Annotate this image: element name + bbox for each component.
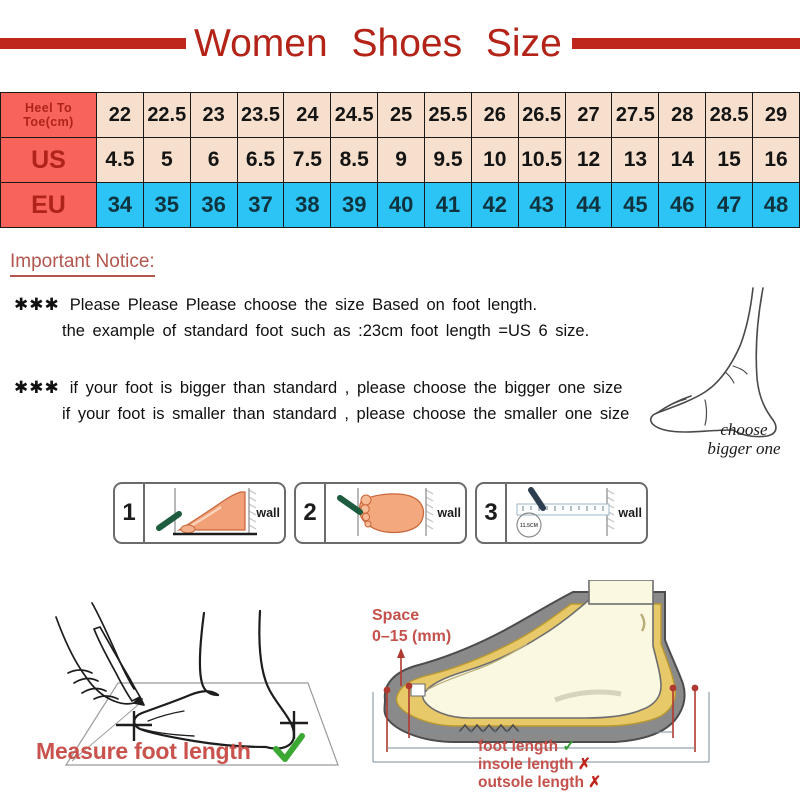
notice-text: if your foot is bigger than standard , p… — [70, 379, 623, 397]
cell-us: 14 — [659, 138, 706, 183]
notice-text: the example of standard foot such as :23… — [62, 322, 589, 340]
cell-us: 8.5 — [331, 138, 378, 183]
choose-line-1: choose — [694, 420, 794, 439]
notice-block-2: ✱✱✱if your foot is bigger than standard … — [14, 375, 629, 427]
legend-label: foot length — [478, 738, 558, 755]
cell-us: 6 — [190, 138, 237, 183]
space-line-1: Space — [372, 605, 451, 626]
cell-eu: 39 — [331, 183, 378, 228]
green-check-icon — [272, 732, 306, 766]
asterisk-marker: ✱✱✱ — [14, 378, 60, 397]
length-legend: foot length ✓ insole length ✗ outsole le… — [478, 738, 601, 792]
cell-eu: 45 — [612, 183, 659, 228]
step-illustration-foot-top: wall — [326, 484, 465, 542]
page-title-banner: Women Shoes Size — [0, 14, 800, 72]
row-label-us: US — [1, 138, 97, 183]
legend-insole-length: insole length ✗ — [478, 756, 601, 774]
cell-cm: 24.5 — [331, 93, 378, 138]
notice-line: ✱✱✱Please Please Please choose the size … — [14, 292, 589, 318]
space-line-2: 0–15 (mm) — [372, 626, 451, 647]
cell-us: 9 — [378, 138, 425, 183]
legend-label: insole length — [478, 756, 574, 773]
title-bar-left — [0, 38, 186, 49]
cell-eu: 47 — [706, 183, 753, 228]
cell-eu: 36 — [190, 183, 237, 228]
cell-eu: 34 — [97, 183, 144, 228]
cell-cm: 24 — [284, 93, 331, 138]
cell-us: 15 — [706, 138, 753, 183]
cell-us: 7.5 — [284, 138, 331, 183]
wall-label: wall — [437, 506, 461, 520]
cell-us: 10.5 — [518, 138, 565, 183]
row-label-heel-to-toe: Heel To Toe(cm) — [1, 93, 97, 138]
cell-cm: 28 — [659, 93, 706, 138]
table-row-heel-to-toe: Heel To Toe(cm) 22 22.5 23 23.5 24 24.5 … — [1, 93, 800, 138]
notice-block-1: ✱✱✱Please Please Please choose the size … — [14, 292, 589, 344]
notice-text: if your foot is smaller than standard , … — [62, 405, 629, 423]
cell-cm: 25.5 — [425, 93, 472, 138]
cell-eu: 43 — [518, 183, 565, 228]
cell-us: 5 — [143, 138, 190, 183]
legend-label: outsole length — [478, 774, 584, 791]
step-number: 1 — [115, 484, 145, 542]
cell-us: 16 — [753, 138, 800, 183]
table-row-eu: EU 34 35 36 37 38 39 40 41 42 43 44 45 4… — [1, 183, 800, 228]
page-title: Women Shoes Size — [186, 24, 568, 63]
cell-eu: 40 — [378, 183, 425, 228]
cell-cm: 27 — [565, 93, 612, 138]
svg-text:11.5CM: 11.5CM — [520, 523, 538, 529]
cell-eu: 48 — [753, 183, 800, 228]
cross-icon: ✗ — [578, 756, 591, 773]
notice-line: ✱✱✱if your foot is bigger than standard … — [14, 375, 629, 401]
cell-us: 4.5 — [97, 138, 144, 183]
cell-eu: 42 — [471, 183, 518, 228]
cross-icon: ✗ — [588, 774, 601, 791]
cell-cm: 28.5 — [706, 93, 753, 138]
cell-us: 6.5 — [237, 138, 284, 183]
step-box-2: 2 wall — [294, 482, 467, 544]
step-illustration-ruler: 11.5CM wall — [507, 484, 646, 542]
wall-label: wall — [256, 506, 280, 520]
check-icon: ✓ — [562, 738, 575, 755]
cell-us: 9.5 — [425, 138, 472, 183]
cell-eu: 41 — [425, 183, 472, 228]
cell-eu: 44 — [565, 183, 612, 228]
cell-cm: 22.5 — [143, 93, 190, 138]
cell-cm: 26.5 — [518, 93, 565, 138]
cell-cm: 23 — [190, 93, 237, 138]
space-gap-label: Space 0–15 (mm) — [372, 605, 451, 647]
legend-outsole-length: outsole length ✗ — [478, 774, 601, 792]
step-box-3: 3 — [475, 482, 648, 544]
cell-cm: 23.5 — [237, 93, 284, 138]
size-chart-page: Women Shoes Size Heel To Toe(cm) 22 22.5… — [0, 0, 800, 800]
table-row-us: US 4.5 5 6 6.5 7.5 8.5 9 9.5 10 10.5 12 … — [1, 138, 800, 183]
cell-cm: 27.5 — [612, 93, 659, 138]
step-number: 2 — [296, 484, 326, 542]
cell-eu: 35 — [143, 183, 190, 228]
measure-steps-row: 1 wall — [113, 482, 648, 544]
cell-cm: 25 — [378, 93, 425, 138]
row-label-eu: EU — [1, 183, 97, 228]
title-bar-right — [572, 38, 800, 49]
cell-cm: 29 — [753, 93, 800, 138]
choose-line-2: bigger one — [694, 439, 794, 458]
cell-cm: 26 — [471, 93, 518, 138]
notice-line: if your foot is smaller than standard , … — [14, 401, 629, 427]
measure-foot-length-caption: Measure foot length — [36, 738, 251, 765]
notice-line: the example of standard foot such as :23… — [14, 318, 589, 344]
important-notice-heading: Important Notice: — [10, 252, 155, 277]
cell-us: 13 — [612, 138, 659, 183]
cell-eu: 37 — [237, 183, 284, 228]
notice-text: Please Please Please choose the size Bas… — [70, 296, 537, 314]
choose-bigger-one-caption: choose bigger one — [694, 420, 794, 458]
step-number: 3 — [477, 484, 507, 542]
asterisk-marker: ✱✱✱ — [14, 295, 60, 314]
legend-foot-length: foot length ✓ — [478, 738, 601, 756]
wall-label: wall — [618, 506, 642, 520]
step-illustration-foot-side: wall — [145, 484, 284, 542]
cell-eu: 46 — [659, 183, 706, 228]
cell-cm: 22 — [97, 93, 144, 138]
cell-us: 10 — [471, 138, 518, 183]
cell-eu: 38 — [284, 183, 331, 228]
cell-us: 12 — [565, 138, 612, 183]
size-conversion-table: Heel To Toe(cm) 22 22.5 23 23.5 24 24.5 … — [0, 92, 800, 228]
step-box-1: 1 wall — [113, 482, 286, 544]
